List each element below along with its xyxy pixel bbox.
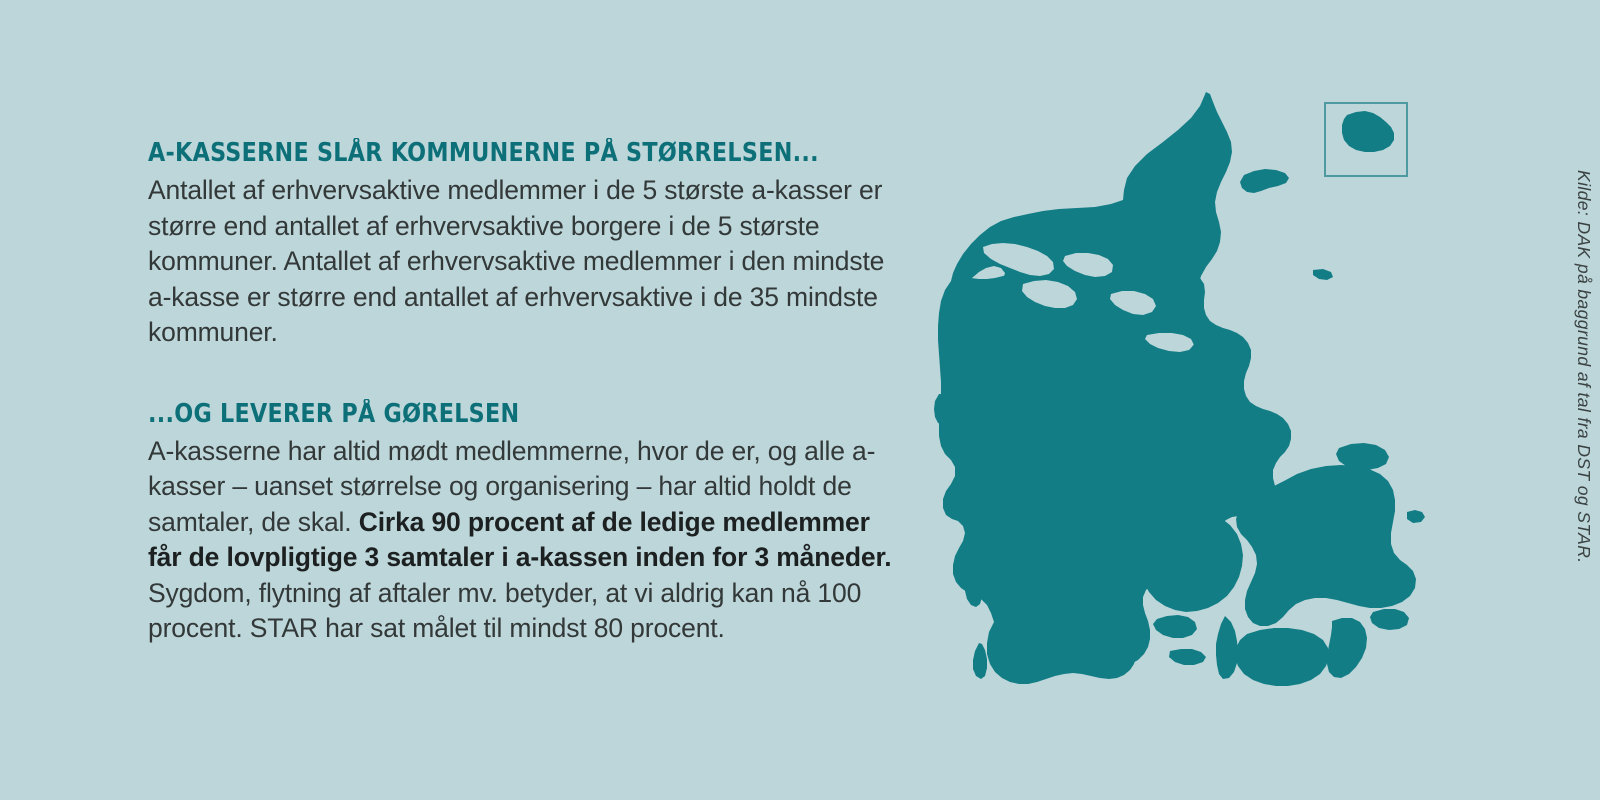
island-langeland: [1216, 616, 1238, 679]
funen-south-islands: [1153, 615, 1197, 638]
denmark-map-svg: [895, 78, 1475, 708]
section-heading-size: A-KASSERNE SLÅR KOMMUNERNE PÅ STØRRELSEN…: [148, 138, 885, 168]
island-aero: [1169, 649, 1206, 665]
island-moen: [1370, 609, 1409, 630]
island-laeso: [1240, 169, 1289, 193]
infographic-canvas: A-KASSERNE SLÅR KOMMUNERNE PÅ STØRRELSEN…: [0, 0, 1600, 800]
section-heading-delivery: ...OG LEVERER PÅ GØRELSEN: [148, 399, 885, 429]
island-bornholm: [1342, 111, 1394, 152]
island-falster: [1327, 618, 1367, 678]
paragraph-text-tail: Sygdom, flytning af aftaler mv. betyder,…: [148, 578, 861, 644]
island-sealand-east-spur: [1407, 510, 1425, 523]
section-paragraph-size: Antallet af erhvervsaktive medlemmer i d…: [148, 173, 908, 351]
funen-landmass: [1140, 509, 1243, 612]
jutland-south-landmass: [987, 617, 1136, 684]
source-note: Kilde: DAK på baggrund af tal fra DST og…: [1573, 170, 1594, 564]
jutland-main-landmass: [938, 271, 1291, 666]
section-paragraph-delivery: A-kasserne har altid mødt medlemmerne, h…: [148, 434, 908, 647]
denmark-map: [895, 78, 1475, 708]
island-lolland: [1235, 628, 1329, 686]
section-spacer: [148, 351, 908, 399]
island-anholt: [1313, 269, 1333, 280]
island-mandoe: [934, 394, 949, 425]
text-column: A-KASSERNE SLÅR KOMMUNERNE PÅ STØRRELSEN…: [148, 138, 908, 647]
island-romo: [973, 643, 987, 679]
